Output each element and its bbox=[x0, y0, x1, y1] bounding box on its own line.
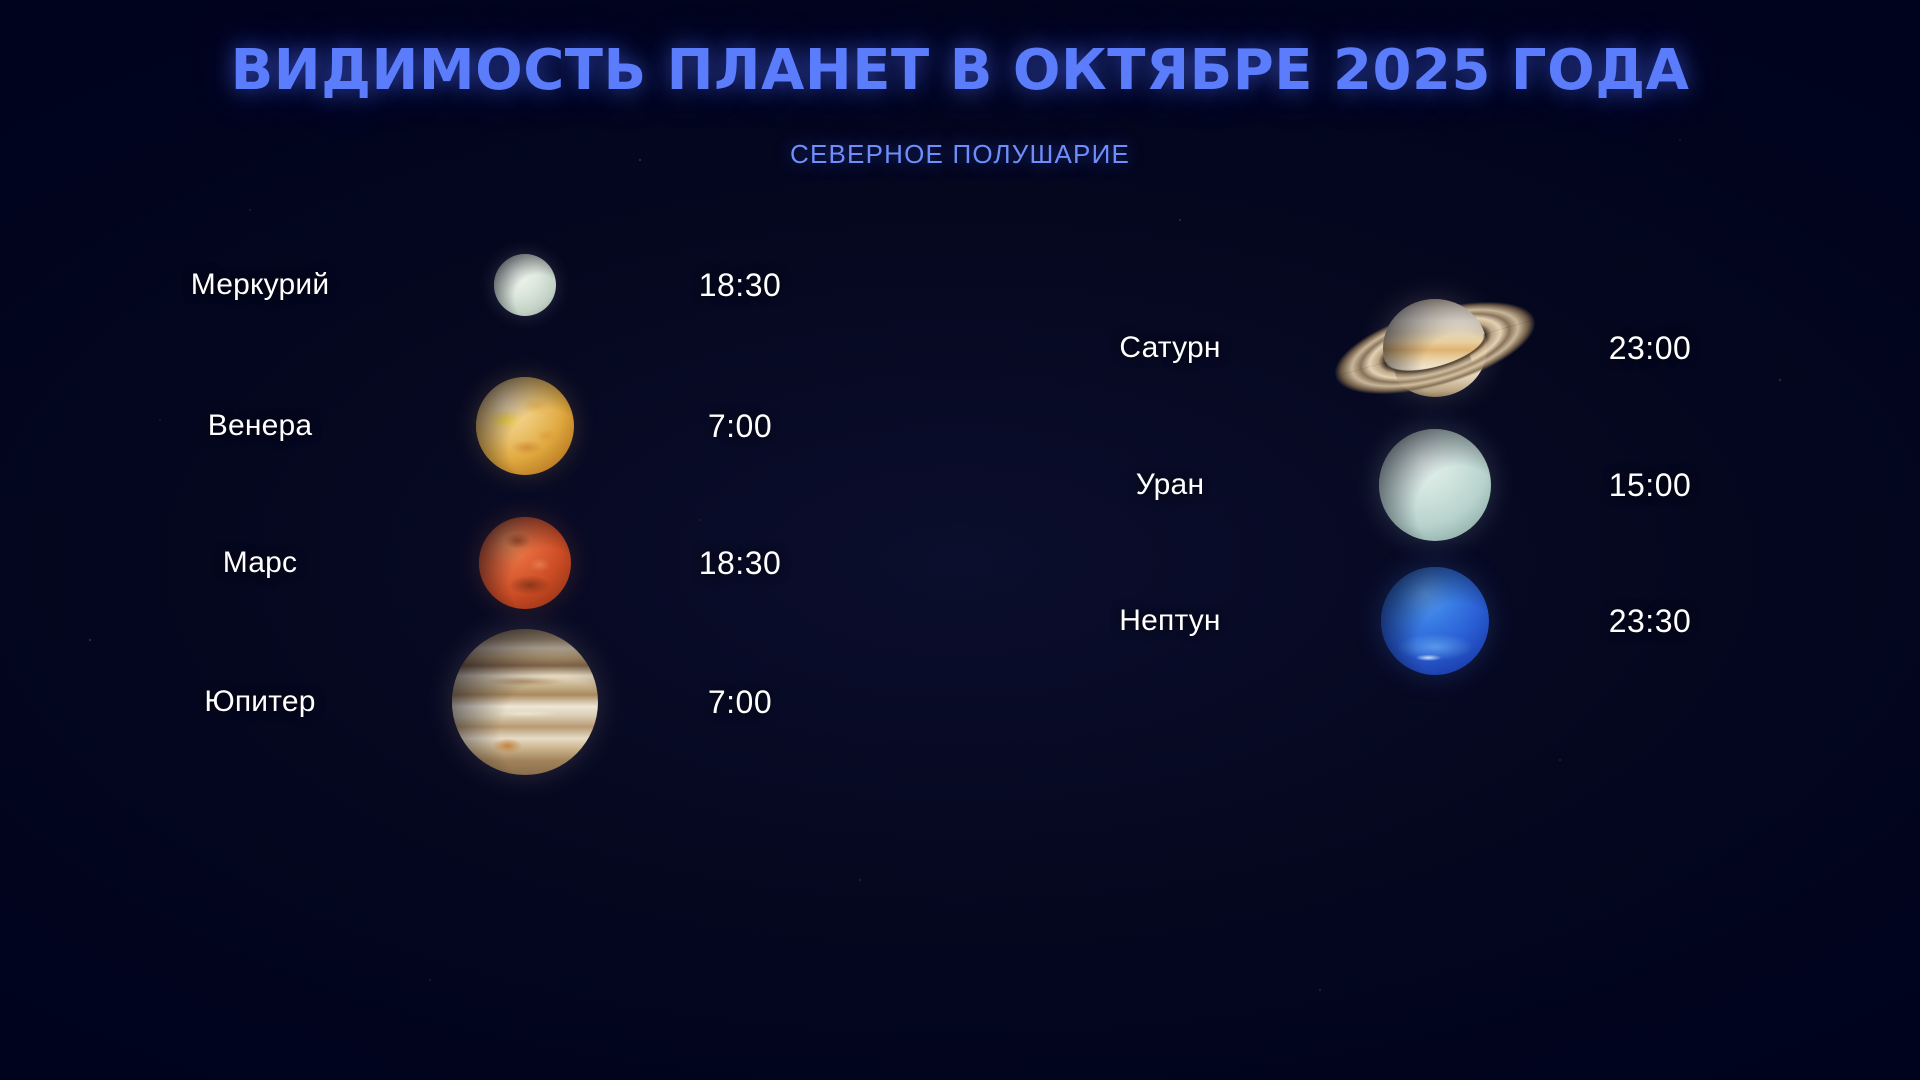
planet-name-neptune: Нептун bbox=[1020, 604, 1320, 638]
neptune-planet-icon bbox=[1381, 567, 1489, 675]
planet-time-venus: 7:00 bbox=[640, 408, 840, 445]
planet-globe-cell-jupiter bbox=[410, 629, 640, 775]
mercury-planet-icon bbox=[494, 254, 556, 316]
planet-column-left: Меркурий 18:30 Венера 7:00 Марс 18:30 bbox=[110, 250, 870, 1040]
planet-time-neptune: 23:30 bbox=[1550, 603, 1750, 640]
planet-globe-cell-mars bbox=[410, 517, 640, 609]
mars-planet-icon bbox=[479, 517, 571, 609]
planet-name-mercury: Меркурий bbox=[110, 268, 410, 302]
planet-column-right: Сатурн 23:00 Уран 15:00 bbox=[1020, 250, 1780, 1040]
planet-name-venus: Венера bbox=[110, 409, 410, 443]
saturn-planet-icon bbox=[1320, 273, 1550, 423]
planet-time-saturn: 23:00 bbox=[1550, 330, 1750, 367]
planet-globe-cell-neptune bbox=[1320, 567, 1550, 675]
planet-globe-cell-saturn bbox=[1320, 273, 1550, 423]
planet-name-saturn: Сатурн bbox=[1020, 331, 1320, 365]
planet-globe-cell-mercury bbox=[410, 254, 640, 316]
page-title: ВИДИМОСТЬ ПЛАНЕТ В ОКТЯБРЕ 2025 ГОДА bbox=[0, 42, 1920, 101]
uranus-planet-icon bbox=[1379, 429, 1491, 541]
poster-header: ВИДИМОСТЬ ПЛАНЕТ В ОКТЯБРЕ 2025 ГОДА СЕВ… bbox=[0, 0, 1920, 170]
planet-columns: Меркурий 18:30 Венера 7:00 Марс 18:30 bbox=[0, 250, 1920, 1040]
planet-time-jupiter: 7:00 bbox=[640, 684, 840, 721]
planet-name-jupiter: Юпитер bbox=[110, 685, 410, 719]
venus-planet-icon bbox=[476, 377, 574, 475]
planet-globe-cell-venus bbox=[410, 377, 640, 475]
planet-time-mercury: 18:30 bbox=[640, 267, 840, 304]
planet-name-uranus: Уран bbox=[1020, 468, 1320, 502]
jupiter-planet-icon bbox=[452, 629, 598, 775]
planet-time-uranus: 15:00 bbox=[1550, 467, 1750, 504]
planet-visibility-poster: ВИДИМОСТЬ ПЛАНЕТ В ОКТЯБРЕ 2025 ГОДА СЕВ… bbox=[0, 0, 1920, 1080]
planet-time-mars: 18:30 bbox=[640, 545, 840, 582]
planet-globe-cell-uranus bbox=[1320, 429, 1550, 541]
planet-name-mars: Марс bbox=[110, 546, 410, 580]
page-subtitle: СЕВЕРНОЕ ПОЛУШАРИЕ bbox=[0, 139, 1920, 170]
